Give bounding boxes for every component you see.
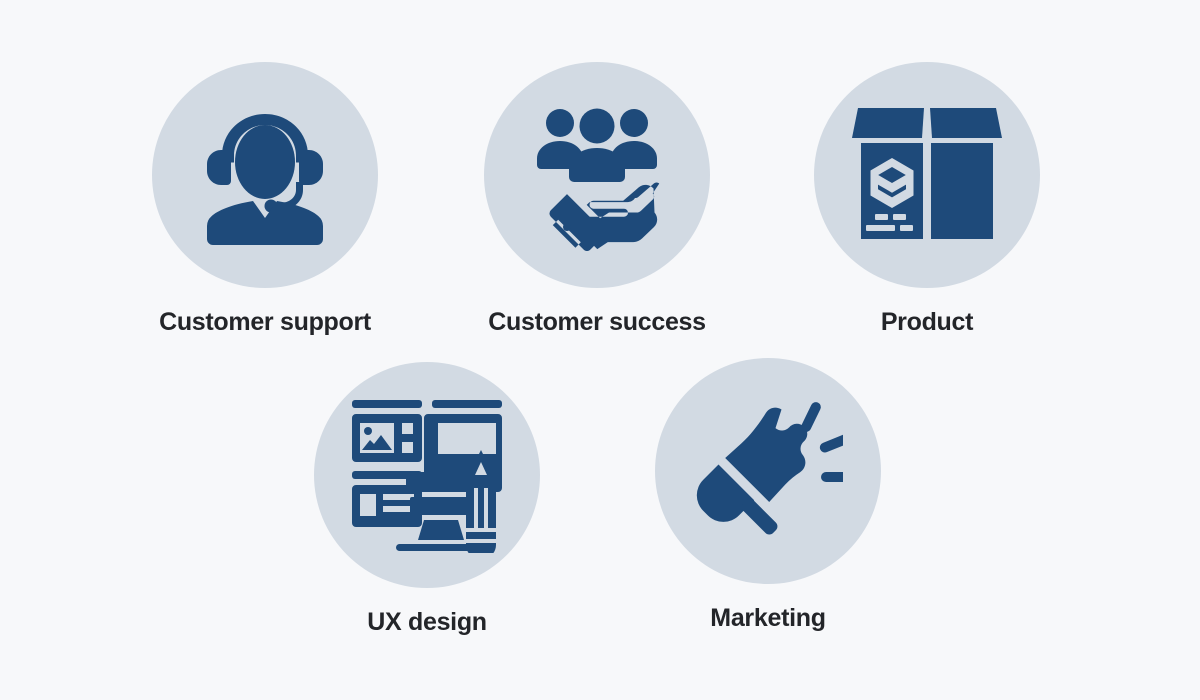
category-label: Marketing	[710, 606, 825, 631]
people-in-hand-icon	[521, 99, 673, 251]
icon-circle-ux-design	[314, 362, 540, 588]
category-customer-success[interactable]: Customer success	[467, 62, 727, 335]
open-box-package-icon	[852, 105, 1002, 245]
headset-support-agent-icon	[190, 100, 340, 250]
icon-circle-customer-success	[484, 62, 710, 288]
category-customer-support[interactable]: Customer support	[135, 62, 395, 335]
icon-circle-product	[814, 62, 1040, 288]
icon-circle-customer-support	[152, 62, 378, 288]
category-product[interactable]: Product	[797, 62, 1057, 335]
category-board: Customer support	[0, 0, 1200, 700]
category-ux-design[interactable]: UX design	[297, 362, 557, 635]
category-label: Customer success	[488, 310, 706, 335]
category-marketing[interactable]: Marketing	[638, 358, 898, 631]
icon-circle-marketing	[655, 358, 881, 584]
category-label: UX design	[367, 610, 487, 635]
megaphone-icon	[693, 396, 843, 546]
category-label: Customer support	[159, 310, 371, 335]
wireframe-monitor-pencil-icon	[348, 398, 506, 553]
category-label: Product	[881, 310, 973, 335]
